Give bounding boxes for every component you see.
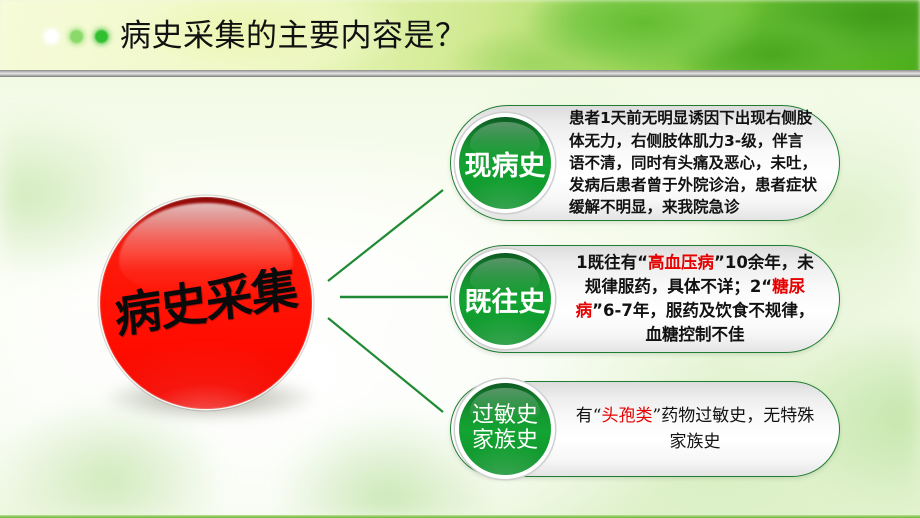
light-green-dot-icon bbox=[70, 30, 83, 43]
center-node: 病史采集 bbox=[100, 197, 312, 409]
highlighted-term: 头孢类 bbox=[602, 406, 653, 426]
branch-card-allergy-family-history[interactable]: 过敏史 家族史 有“头孢类”药物过敏史，无特殊家族史 bbox=[450, 381, 840, 477]
branch-card-past-history[interactable]: 既往史 1既往有“高血压病”10余年，未规律服药，具体不详；2“糖尿病”6-7年… bbox=[450, 245, 840, 353]
body-text-run: 患者1天前无明显诱因下出现右侧肢体无力，右侧肢体肌力3-级，伴言语不清，同时有头… bbox=[569, 109, 817, 216]
body-text-run: ”6-7年，服药及饮食不规律，血糖控制不佳 bbox=[592, 301, 814, 344]
branch-badge-label: 既往史 bbox=[465, 280, 546, 319]
header-divider-bar bbox=[0, 70, 920, 77]
highlighted-term: 高血压病 bbox=[648, 253, 714, 272]
branch-badge-past-history: 既往史 bbox=[459, 253, 551, 345]
branch-text-past-history: 1既往有“高血压病”10余年，未规律服药，具体不详；2“糖尿病”6-7年，服药及… bbox=[569, 251, 821, 348]
branch-text-allergy-family-history: 有“头孢类”药物过敏史，无特殊家族史 bbox=[569, 403, 821, 456]
branch-badge-label-line2: 家族史 bbox=[472, 429, 538, 454]
branch-badge-label-line1: 过敏史 bbox=[472, 404, 538, 429]
body-text-run: ”药物过敏史，无特殊家族史 bbox=[653, 406, 815, 452]
branch-badge-present-illness: 现病史 bbox=[459, 117, 551, 209]
branch-text-present-illness: 患者1天前无明显诱因下出现右侧肢体无力，右侧肢体肌力3-级，伴言语不清，同时有头… bbox=[569, 107, 817, 219]
green-dot-icon bbox=[95, 30, 108, 43]
branch-badge-label: 现病史 bbox=[465, 144, 546, 183]
branch-card-present-illness[interactable]: 现病史 患者1天前无明显诱因下出现右侧肢体无力，右侧肢体肌力3-级，伴言语不清，… bbox=[450, 105, 840, 221]
slide-canvas: 病史采集的主要内容是？ 病史采集 现病史 患者1天前无明显诱因下出现右侧肢体无力… bbox=[0, 0, 920, 518]
white-dot-icon bbox=[45, 30, 58, 43]
body-text-run: 有“ bbox=[576, 406, 602, 426]
body-text-run: 1既往有“ bbox=[576, 253, 648, 272]
page-title: 病史采集的主要内容是？ bbox=[120, 21, 467, 52]
bullet-dots-group bbox=[45, 30, 108, 43]
branch-badge-allergy-family-history: 过敏史 家族史 bbox=[459, 383, 551, 475]
slide-header: 病史采集的主要内容是？ bbox=[0, 8, 467, 64]
